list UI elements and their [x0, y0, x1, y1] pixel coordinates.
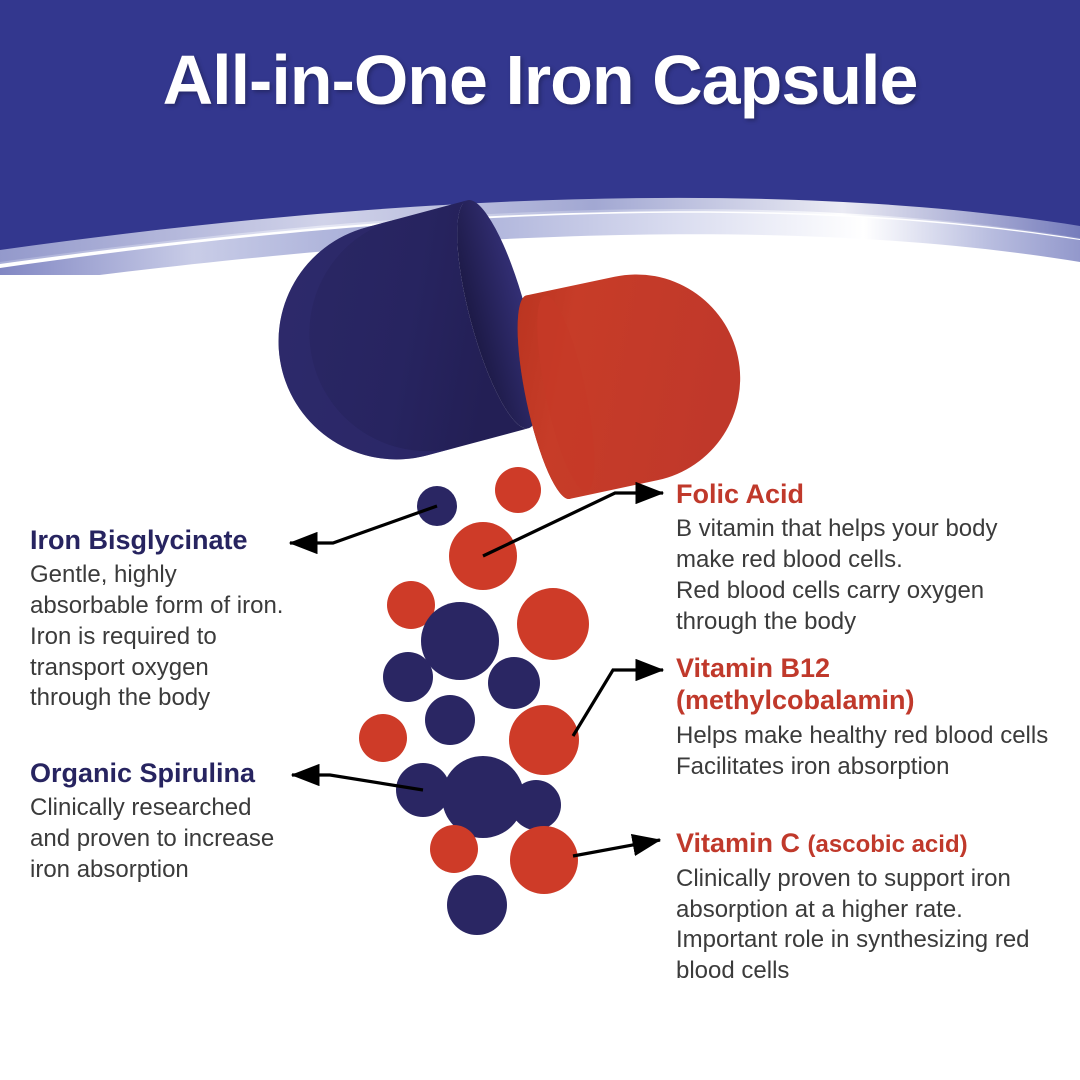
granule-dot: [447, 875, 507, 935]
granule-dot: [509, 705, 579, 775]
callout-body-organic-spirulina: Clinically researched and proven to incr…: [30, 793, 330, 885]
red-capsule-half: [505, 255, 760, 503]
infographic-poster: All-in-One Iron Capsule: [0, 0, 1080, 1080]
granule-dot: [421, 602, 499, 680]
granule-dot: [430, 825, 478, 873]
callout-folic-acid: Folic Acid B vitamin that helps your bod…: [676, 478, 1072, 637]
arrow-to-vitamin-b12: [573, 670, 663, 736]
navy-capsule-half: [252, 193, 556, 486]
callout-heading-vitamin-b12: Vitamin B12 (methylcobalamin): [676, 652, 1076, 717]
granule-dot: [495, 467, 541, 513]
callout-heading-vitamin-b12-line1: Vitamin B12: [676, 653, 830, 683]
callout-vitamin-c: Vitamin C (ascobic acid) Clinically prov…: [676, 827, 1078, 987]
arrow-to-vitamin-c: [573, 840, 660, 856]
callout-heading-vitamin-b12-line2: (methylcobalamin): [676, 685, 915, 715]
granule-dot: [359, 714, 407, 762]
granule-dot: [517, 588, 589, 660]
callout-iron-bisglycinate: Iron Bisglycinate Gentle, highly absorba…: [30, 524, 330, 714]
granule-dot: [511, 780, 561, 830]
granule-dot: [383, 652, 433, 702]
callout-body-vitamin-c: Clinically proven to support iron absorp…: [676, 864, 1078, 987]
callout-vitamin-b12: Vitamin B12 (methylcobalamin) Helps make…: [676, 652, 1076, 782]
callout-heading-vitamin-c-sub: (ascobic acid): [808, 831, 968, 858]
callout-heading-vitamin-c: Vitamin C (ascobic acid): [676, 827, 1078, 860]
callout-body-vitamin-b12: Helps make healthy red blood cells Facil…: [676, 721, 1076, 782]
pill-granules: [359, 467, 589, 935]
granule-dot: [488, 657, 540, 709]
callout-heading-folic-acid: Folic Acid: [676, 478, 1072, 510]
callout-body-folic-acid: B vitamin that helps your body make red …: [676, 514, 1072, 637]
callout-body-iron-bisglycinate: Gentle, highly absorbable form of iron. …: [30, 560, 330, 714]
callout-heading-vitamin-c-main: Vitamin C: [676, 828, 808, 858]
callout-organic-spirulina: Organic Spirulina Clinically researched …: [30, 757, 330, 886]
callout-heading-organic-spirulina: Organic Spirulina: [30, 757, 330, 789]
callout-heading-iron-bisglycinate: Iron Bisglycinate: [30, 524, 330, 556]
granule-dot: [425, 695, 475, 745]
granule-dot: [510, 826, 578, 894]
